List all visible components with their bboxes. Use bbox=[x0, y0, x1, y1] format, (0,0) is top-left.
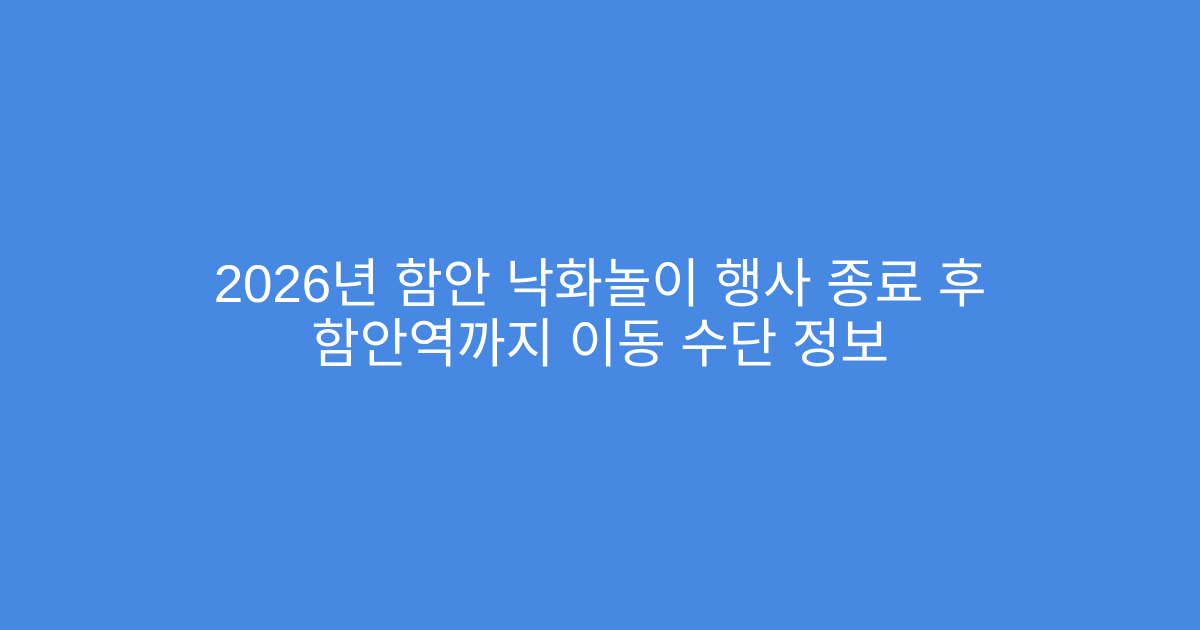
title-block: 2026년 함안 낙화놀이 행사 종료 후 함안역까지 이동 수단 정보 bbox=[95, 255, 1105, 375]
page-title: 2026년 함안 낙화놀이 행사 종료 후 함안역까지 이동 수단 정보 bbox=[105, 255, 1095, 375]
og-image-card: 2026년 함안 낙화놀이 행사 종료 후 함안역까지 이동 수단 정보 bbox=[0, 0, 1200, 630]
